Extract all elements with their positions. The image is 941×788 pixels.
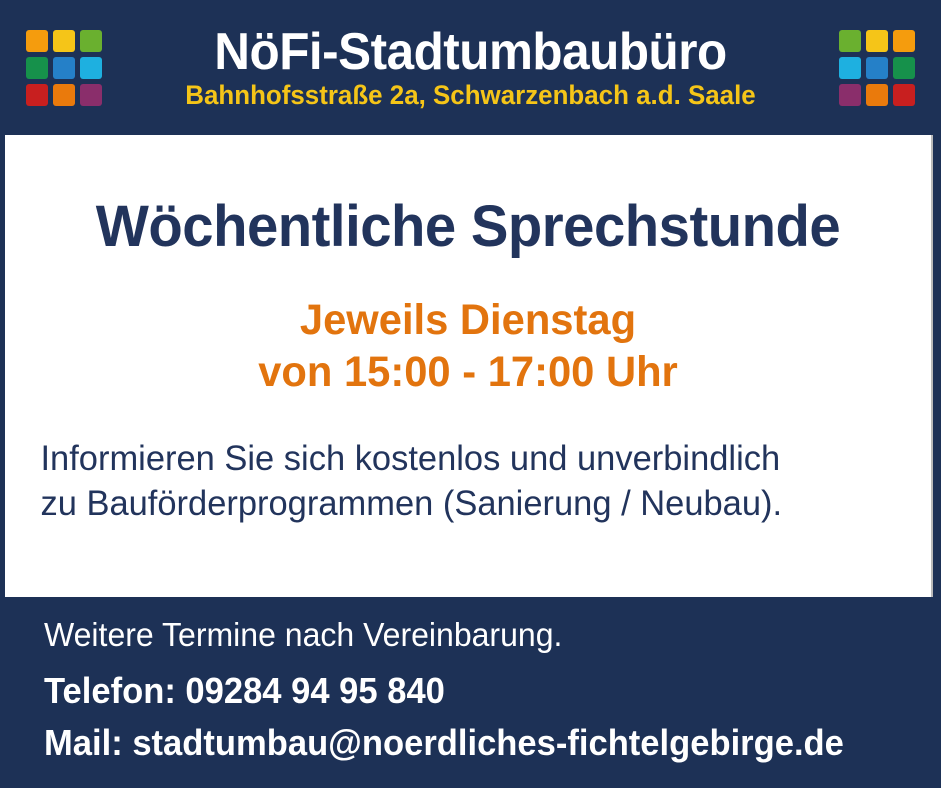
announcement-card: Wöchentliche Sprechstunde Jeweils Dienst… bbox=[5, 135, 933, 597]
logo-cell bbox=[839, 84, 861, 106]
mail-line[interactable]: Mail: stadtumbau@noerdliches-fichtelgebi… bbox=[44, 713, 905, 765]
consultation-time-block: Jeweils Dienstag von 15:00 - 17:00 Uhr bbox=[19, 258, 917, 399]
logo-cell bbox=[866, 30, 888, 52]
consultation-hours: von 15:00 - 17:00 Uhr bbox=[19, 346, 917, 398]
card-heading: Wöchentliche Sprechstunde bbox=[19, 135, 917, 258]
header-bar: NöFi-Stadtumbaubüro Bahnhofsstraße 2a, S… bbox=[0, 0, 941, 135]
logo-cell bbox=[839, 30, 861, 52]
logo-cell bbox=[893, 84, 915, 106]
card-body-text: Informieren Sie sich kostenlos und unver… bbox=[5, 399, 917, 527]
logo-cell bbox=[893, 57, 915, 79]
consultation-day: Jeweils Dienstag bbox=[19, 294, 917, 346]
logo-cell bbox=[26, 30, 48, 52]
poster: NöFi-Stadtumbaubüro Bahnhofsstraße 2a, S… bbox=[0, 0, 941, 788]
noefi-logo-right-icon bbox=[839, 30, 915, 106]
logo-cell bbox=[80, 30, 102, 52]
logo-cell bbox=[53, 57, 75, 79]
logo-cell bbox=[53, 84, 75, 106]
phone-line[interactable]: Telefon: 09284 94 95 840 bbox=[44, 669, 905, 713]
logo-cell bbox=[80, 57, 102, 79]
logo-cell bbox=[26, 57, 48, 79]
noefi-logo-left-icon bbox=[26, 30, 102, 106]
logo-cell bbox=[866, 57, 888, 79]
logo-cell bbox=[839, 57, 861, 79]
appointment-note: Weitere Termine nach Vereinbarung. bbox=[44, 615, 914, 655]
logo-cell bbox=[80, 84, 102, 106]
organization-address: Bahnhofsstraße 2a, Schwarzenbach a.d. Sa… bbox=[128, 82, 812, 109]
logo-cell bbox=[893, 30, 915, 52]
footer-bar: Weitere Termine nach Vereinbarung. Telef… bbox=[0, 597, 941, 788]
header-text-block: NöFi-Stadtumbaubüro Bahnhofsstraße 2a, S… bbox=[110, 26, 831, 109]
organization-title: NöFi-Stadtumbaubüro bbox=[132, 26, 809, 78]
logo-cell bbox=[53, 30, 75, 52]
logo-cell bbox=[866, 84, 888, 106]
contact-block: Telefon: 09284 94 95 840 Mail: stadtumba… bbox=[44, 655, 905, 765]
card-body-line-2: zu Bauförderprogrammen (Sanierung / Neub… bbox=[40, 482, 891, 527]
logo-cell bbox=[26, 84, 48, 106]
card-body-line-1: Informieren Sie sich kostenlos und unver… bbox=[40, 437, 891, 482]
